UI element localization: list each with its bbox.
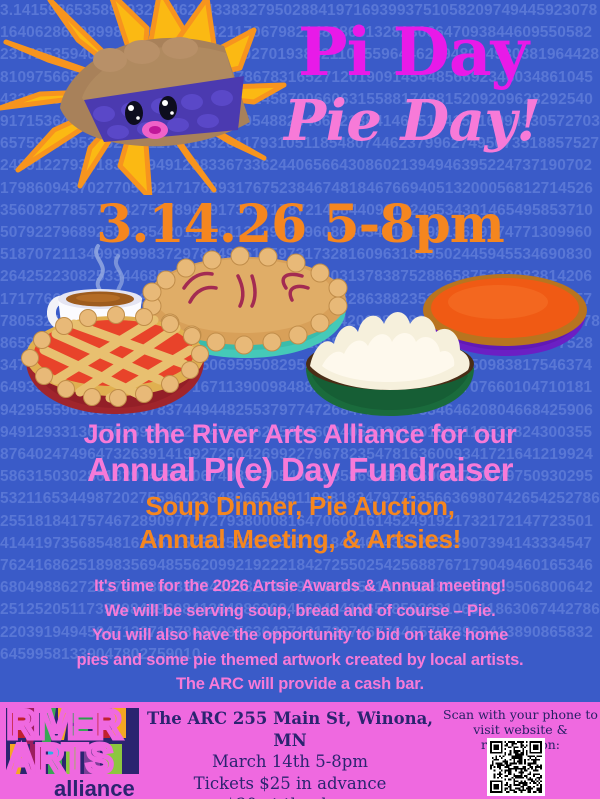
- river-arts-alliance-logo: R RIVER ARTS alliance: [6, 704, 139, 799]
- qr-code[interactable]: [487, 738, 545, 796]
- headline-pi-day: Pi Day: [298, 20, 528, 84]
- pi-day-poster: 3.14159265358979323846264338327950288419…: [0, 0, 600, 799]
- line-annual-meeting: Annual Meeting, & Artsies!: [0, 523, 600, 556]
- qr-code-icon[interactable]: [490, 741, 542, 793]
- paragraph-line-3: You will also have the opportunity to bi…: [0, 623, 600, 648]
- paragraph-line-4: pies and some pie themed artwork created…: [0, 648, 600, 673]
- svg-text:ARTS: ARTS: [7, 737, 112, 781]
- venue-date: March 14th 5-8pm: [140, 751, 440, 773]
- line-join-river-arts: Join the River Arts Alliance for our: [0, 418, 600, 450]
- paragraph-line-5: The ARC will provide a cash bar.: [0, 672, 600, 697]
- cream-pie-icon: [300, 296, 480, 421]
- venue-address: The ARC 255 Main St, Winona, MN: [140, 708, 440, 751]
- pie-illustrations: [0, 250, 600, 422]
- paragraph-line-1: It's time for the 2026 Artsie Awards & A…: [0, 574, 600, 599]
- line-soup-dinner: Soup Dinner, Pie Auction,: [0, 490, 600, 523]
- scan-line-1: Scan with your phone to: [443, 707, 598, 722]
- logo-alliance-text: alliance: [54, 776, 135, 799]
- pie-slice-body: [60, 37, 250, 146]
- paragraph-line-2: We will be serving soup, bread and of co…: [0, 599, 600, 624]
- venue-ticket-door: $30 at the door: [140, 794, 440, 799]
- venue-info: The ARC 255 Main St, Winona, MN March 14…: [140, 708, 440, 799]
- line-annual-fundraiser: Annual Pi(e) Day Fundraiser: [0, 450, 600, 490]
- headline-pie-day: Pie Day!: [284, 92, 540, 150]
- venue-ticket-advance: Tickets $25 in advance: [140, 773, 440, 795]
- lattice-cherry-pie-icon: [20, 306, 210, 421]
- event-description-block: Join the River Arts Alliance for our Ann…: [0, 418, 600, 556]
- event-details-paragraph: It's time for the 2026 Artsie Awards & A…: [0, 574, 600, 697]
- sunburst-mascot: [0, 0, 292, 195]
- sunburst-pie-slice-icon: [0, 0, 292, 195]
